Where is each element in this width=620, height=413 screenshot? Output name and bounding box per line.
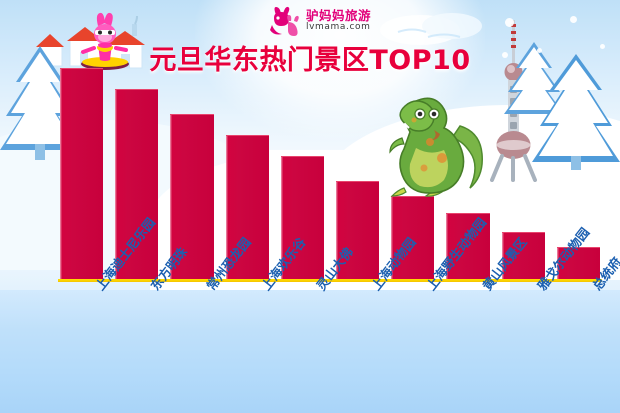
bar-1[interactable] (60, 68, 103, 280)
x-axis-labels: 上海迪士尼乐园东方明珠常州恐龙园上海欢乐谷灵山大佛上海动物园上海野生动物园黄山风… (60, 282, 600, 410)
donkey-logo-icon (268, 6, 302, 36)
page-title: 元旦华东热门景区TOP10 (0, 38, 620, 77)
logo-text-cn: 驴妈妈旅游 (306, 10, 371, 23)
infographic-canvas: 驴妈妈旅游 lvmama.com 元旦华东热门景区TOP10 上海迪士尼乐园东方… (0, 0, 620, 413)
logo-text-en: lvmama.com (306, 23, 371, 32)
snowflake-dot (505, 18, 514, 27)
snowflake-dot (570, 16, 577, 23)
brand-logo[interactable]: 驴妈妈旅游 lvmama.com (268, 6, 371, 36)
